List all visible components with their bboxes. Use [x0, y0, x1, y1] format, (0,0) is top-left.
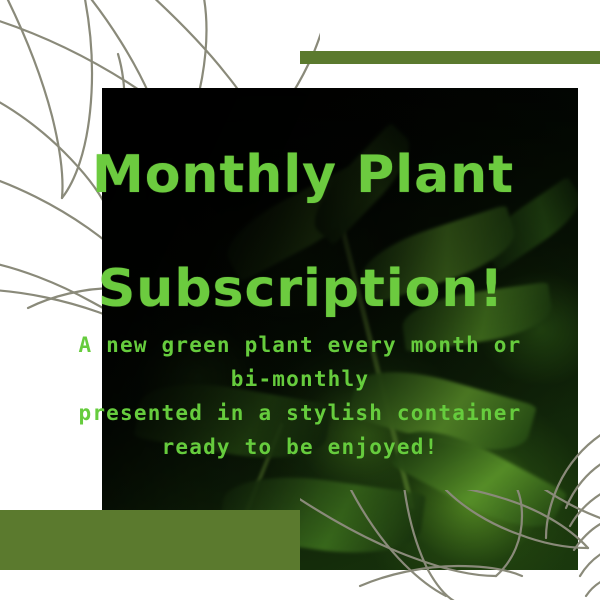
headline-line-1: Monthly Plant	[0, 149, 600, 202]
olive-accent-bar-top	[300, 51, 600, 64]
olive-accent-bar-bottom	[0, 510, 300, 570]
headline-line-2: Subscription!	[0, 263, 600, 316]
body-copy: A new green plant every month or bi-mont…	[0, 328, 600, 464]
poster-canvas: Monthly Plant Subscription! A new green …	[0, 0, 600, 600]
body-line-1: A new green plant every month or	[0, 328, 600, 362]
body-line-3: presented in a stylish container	[0, 396, 600, 430]
body-line-4: ready to be enjoyed!	[0, 430, 600, 464]
body-line-2: bi-monthly	[0, 362, 600, 396]
